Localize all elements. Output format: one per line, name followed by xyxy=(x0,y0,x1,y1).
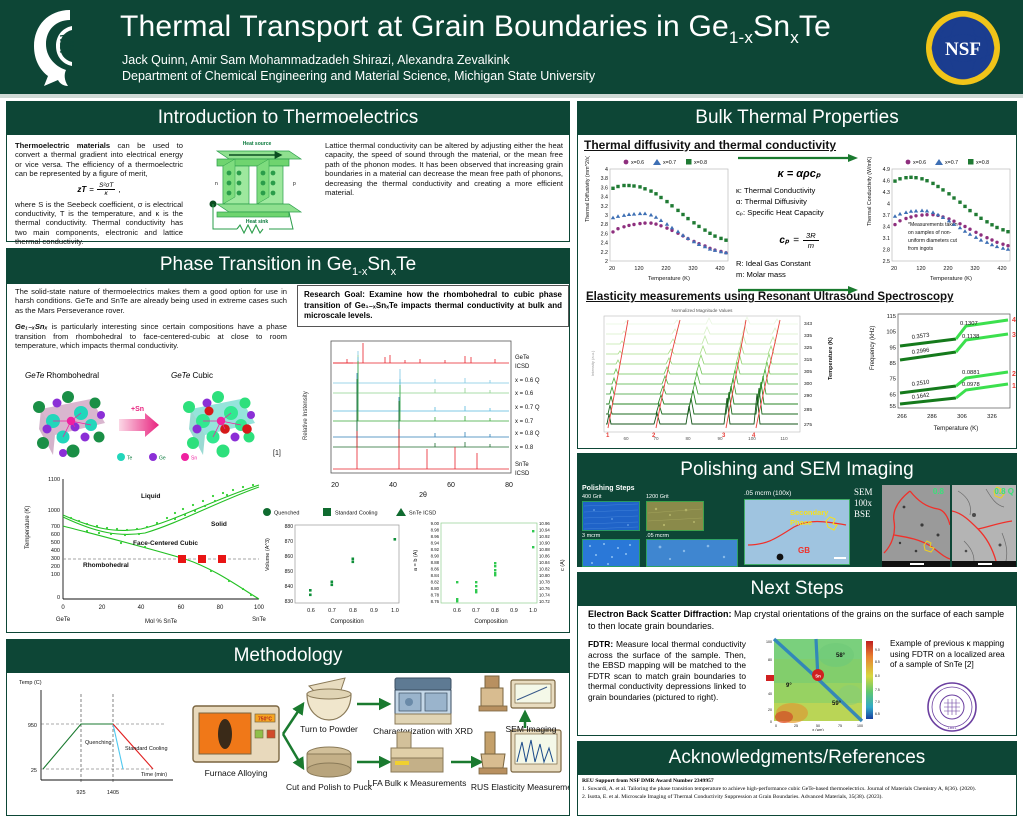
reference-2: 2. Isotta, E. et al. Microscale Imaging … xyxy=(582,794,1012,801)
pd-ytick-200: 200 xyxy=(51,564,60,570)
ebsd-paragraph: Electron Back Scatter Diffraction: Map c… xyxy=(588,609,1008,632)
svg-text:65: 65 xyxy=(890,392,896,398)
svg-text:10.82: 10.82 xyxy=(539,567,550,572)
xrd-machine-icon xyxy=(395,678,451,724)
struct-left-label: GeTe Rhombohedral xyxy=(25,371,99,380)
acknowledgments-heading: Acknowledgments/References xyxy=(578,742,1016,775)
freq-mode-3: 3 xyxy=(1012,332,1016,339)
fdtr-annot-9: 9° xyxy=(786,683,792,689)
waterfall-mode-3: 3 xyxy=(722,433,726,439)
wf-temp-315: 315 xyxy=(804,357,812,363)
xrd-series-label-7a: SnTe xyxy=(515,462,529,468)
freq-mode-4: 4 xyxy=(1012,317,1016,324)
svg-text:8.82: 8.82 xyxy=(431,580,440,585)
diff-legend-06: x=0.6 xyxy=(631,160,644,166)
svg-text:10.84: 10.84 xyxy=(539,560,550,565)
svg-text:100: 100 xyxy=(857,724,863,728)
svg-text:326: 326 xyxy=(987,414,997,420)
phase-diagram-ylabel: Temperature (K) xyxy=(25,506,31,549)
svg-text:10.80: 10.80 xyxy=(539,573,550,578)
svg-text:60: 60 xyxy=(623,436,629,441)
pd-region-liquid: Liquid xyxy=(141,493,161,500)
svg-text:2.8: 2.8 xyxy=(883,248,890,254)
xrd-series-label-0a: GeTe xyxy=(515,355,530,361)
cond-legend-07: x=0.7 xyxy=(945,160,958,166)
lattice-ylabel-right: c (A) xyxy=(560,559,566,571)
svg-text:8.96: 8.96 xyxy=(431,534,440,539)
lattice-legend: Quenched Standard Cooling SnTe ICSD xyxy=(261,505,461,519)
svg-text:10.86: 10.86 xyxy=(539,554,550,559)
tile-label-1200: 1200 Grit xyxy=(646,494,669,500)
svg-text:1.0: 1.0 xyxy=(529,608,537,614)
bulk-subheading: Thermal diffusivity and thermal conducti… xyxy=(584,138,1016,152)
vol-xtick-08: 0.8 xyxy=(349,608,357,614)
atom-legend: Te Ge Sn xyxy=(117,453,197,462)
svg-text:0: 0 xyxy=(770,720,772,724)
fdtr-annot-59: 59° xyxy=(832,701,842,707)
svg-text:10.96: 10.96 xyxy=(539,521,550,526)
pd-ytick-300: 300 xyxy=(51,556,60,562)
pd-xtick-20: 20 xyxy=(99,605,106,611)
title-sn: Sn xyxy=(753,10,790,43)
sem-label-3: BSE xyxy=(854,509,873,520)
step-label-furnace: Furnace Alloying xyxy=(205,768,268,778)
svg-text:105: 105 xyxy=(886,330,896,336)
pd-ytick-0: 0 xyxy=(57,595,60,601)
svg-text:420: 420 xyxy=(997,266,1006,272)
sem-label-1: SEM xyxy=(854,487,873,498)
svg-text:95: 95 xyxy=(890,345,896,351)
svg-text:Te: Te xyxy=(127,456,133,462)
thermal-conductivity-chart: x=0.6 x=0.7 x=0.8 Thermal Conductivity (… xyxy=(864,156,1016,284)
next-steps-heading: Next Steps xyxy=(578,573,1016,606)
author-block: Jack Quinn, Amir Sam Mohammadzadeh Shira… xyxy=(122,52,595,84)
crystal-structures: GeTe Rhombohedral GeTe Cubic xyxy=(13,371,293,471)
svg-text:4.9: 4.9 xyxy=(883,167,890,173)
label-secondary-phase-1: Secondary xyxy=(790,508,829,517)
ebsd-label: Electron Back Scatter Diffraction: xyxy=(588,609,732,619)
xrd-series-label-5: x = 0.8 Q xyxy=(515,431,540,437)
diff-ylabel: Thermal Diffusivity (mm^2/s) xyxy=(585,156,591,222)
arrow-top-icon xyxy=(736,154,860,162)
sem-label-2: 100x xyxy=(854,498,873,509)
svg-text:4.3: 4.3 xyxy=(883,190,890,196)
methodology-flow: 750°C Furnace Alloying Turn to Powder Ch xyxy=(185,672,569,814)
pd-region-solid: Solid xyxy=(211,521,227,528)
title-sub-x: x xyxy=(790,28,799,47)
step-label-powder: Turn to Powder xyxy=(300,724,358,734)
vol-ytick-830: 830 xyxy=(285,599,294,605)
lattice-ylabel-left: a = b (A) xyxy=(413,550,419,571)
xrd-series-label-7b: ICSD xyxy=(515,471,530,477)
xrd-chart: Relative Instensity GeTe ICSD x = 0.6 Q … xyxy=(295,335,567,510)
svg-text:3.6: 3.6 xyxy=(601,185,608,191)
step-label-lfa: LFA Bulk κ Measurements xyxy=(368,778,467,788)
sem-label-block: SEM 100x BSE xyxy=(854,487,873,520)
title-te: Te xyxy=(799,10,831,43)
sem-image-label-08: 0.8 xyxy=(933,487,945,496)
svg-text:2.2: 2.2 xyxy=(601,250,608,256)
svg-text:420: 420 xyxy=(715,266,724,272)
intro-panel: Introduction to Thermoelectrics Thermoel… xyxy=(6,101,570,242)
zt-eq-lhs: zT xyxy=(77,185,86,194)
pd-xtick-40: 40 xyxy=(138,605,145,611)
rus-subheading: Elasticity measurements using Resonant U… xyxy=(586,291,953,303)
cond-legend-08: x=0.8 xyxy=(976,160,989,166)
step-label-rus: RUS Elasticity Measurement xyxy=(471,782,569,792)
optical-micrograph: Secondary Phase GB xyxy=(744,499,850,565)
reu-support-line: REU Support from NSF DMR Award Number 23… xyxy=(582,778,1012,785)
svg-text:220: 220 xyxy=(943,266,952,272)
title-main: Thermal Transport at Grain Boundaries in… xyxy=(120,10,729,43)
vol-ytick-840: 840 xyxy=(285,584,294,590)
temp-xlabel: Time (min) xyxy=(141,772,167,778)
wf-temp-343: 343 xyxy=(804,321,812,327)
wf-temp-325: 325 xyxy=(804,345,812,351)
xrd-series-label-3: x = 0.7 Q xyxy=(515,405,540,411)
diff-legend-08: x=0.8 xyxy=(694,160,707,166)
waterfall-title: Normalized Magnitude Values xyxy=(672,308,734,313)
phase-diagram-chart: Temperature (K) 1100 1000 700 600 500 40… xyxy=(15,471,271,629)
next-steps-panel: Next Steps Electron Back Scatter Diffrac… xyxy=(577,572,1017,736)
svg-text:85: 85 xyxy=(890,361,896,367)
wf-temp-305: 305 xyxy=(804,369,812,375)
svg-text:75: 75 xyxy=(890,377,896,383)
svg-text:80: 80 xyxy=(685,436,691,441)
fdtr-caption: Example of previous κ mapping using FDTR… xyxy=(890,639,1012,671)
nsf-logo: NSF xyxy=(923,8,1003,88)
nsf-logo-text: NSF xyxy=(945,39,981,60)
def-R: R: Ideal Gas Constant xyxy=(736,258,862,269)
svg-text:80: 80 xyxy=(768,658,772,662)
fdtr-label: FDTR: xyxy=(588,639,613,649)
wf-temp-275: 275 xyxy=(804,422,812,428)
pd-region-rhombohedral: Rhombohedral xyxy=(83,562,129,569)
title-sub-1x: 1-x xyxy=(729,28,753,47)
vol-xtick-09: 0.9 xyxy=(370,608,378,614)
xrd-series-label-1: x = 0.6 Q xyxy=(515,378,540,384)
svg-text:8.90: 8.90 xyxy=(431,554,440,559)
rus-frequency-chart: Frequency (kHz) 11510595 857565 55 26628… xyxy=(864,308,1016,444)
freq-slope-high-2: 0.0881 xyxy=(962,370,980,376)
freq-slope-high-3: 0.1138 xyxy=(962,334,979,340)
svg-text:3.8: 3.8 xyxy=(601,176,608,182)
waterfall-mode-1: 1 xyxy=(606,433,610,439)
intro-bold-lead: Thermoelectric materials xyxy=(15,141,110,150)
svg-text:20: 20 xyxy=(609,266,615,272)
pd-xtick-0: 0 xyxy=(61,605,65,611)
svg-text:3.4: 3.4 xyxy=(883,225,890,231)
freq-mode-1: 1 xyxy=(1012,383,1016,390)
intro-paragraph-2: where S is the Seebeck coefficient, σ is… xyxy=(15,200,183,247)
furnace-temp-badge: 750°C xyxy=(258,717,272,723)
cp-eq-lhs: cₚ xyxy=(779,235,789,246)
svg-text:10.90: 10.90 xyxy=(539,541,550,546)
def-kappa: κ: Thermal Conductivity xyxy=(736,185,862,196)
furnace-icon: 750°C xyxy=(193,706,279,762)
vol-xtick-06: 0.6 xyxy=(307,608,315,614)
volume-chart: Volume (A^3) 880 870 860 850 840 830 0.6… xyxy=(259,519,409,629)
kappa-equation: κ = αρcₚ xyxy=(736,167,862,180)
leg-p-label: p xyxy=(293,181,296,187)
affiliation: Department of Chemical Engineering and M… xyxy=(122,68,595,84)
methodology-heading: Methodology xyxy=(7,640,569,673)
svg-text:3.4: 3.4 xyxy=(601,195,608,201)
intro-paragraph-1: Thermoelectric materials can be used to … xyxy=(15,141,183,179)
svg-text:110: 110 xyxy=(780,436,788,441)
bulk-equations-block: κ = αρcₚ κ: Thermal Conductivity α: Ther… xyxy=(736,154,862,294)
temp-ytick-25: 25 xyxy=(31,768,37,774)
svg-text:10.76: 10.76 xyxy=(539,586,550,591)
svg-text:120: 120 xyxy=(916,266,925,272)
temp-xtick-925: 925 xyxy=(76,790,85,796)
svg-text:20: 20 xyxy=(891,266,897,272)
puck-icon xyxy=(307,747,351,777)
pd-xtick-80: 80 xyxy=(217,605,224,611)
pd-ytick-600: 600 xyxy=(51,532,60,538)
cbar-tick-80: 8.0 xyxy=(875,674,880,678)
tile-label-400: 400 Grit xyxy=(582,494,602,500)
xrd-ylabel: Relative Instensity xyxy=(303,391,309,440)
annot-quenching: Quenching xyxy=(85,740,112,746)
cbar-tick-75: 7.5 xyxy=(875,688,880,692)
fdtr-annot-58: 58° xyxy=(836,653,846,659)
polish-400-grit xyxy=(582,501,640,531)
svg-text:4.6: 4.6 xyxy=(883,179,890,185)
svg-text:9.00: 9.00 xyxy=(431,521,440,526)
sem-icon xyxy=(479,676,555,711)
freq-ylabel: Frequency (kHz) xyxy=(870,326,876,370)
msu-spartan-helmet-logo xyxy=(18,6,98,90)
cond-note-line4: from ingots xyxy=(908,246,934,252)
temp-ylabel: Temp (C) xyxy=(19,680,42,686)
header-divider xyxy=(0,94,1023,98)
pd-ytick-100: 100 xyxy=(51,572,60,578)
waterfall-ylabel-right: Temperature (K) xyxy=(828,337,834,380)
svg-text:2.6: 2.6 xyxy=(601,231,608,237)
svg-text:3.1: 3.1 xyxy=(883,236,890,242)
svg-text:2.4: 2.4 xyxy=(601,241,608,247)
step-label-sem: SEM Imaging xyxy=(505,724,556,734)
lattice-xlabel: Composition xyxy=(474,619,507,625)
lfa-icon xyxy=(391,732,443,772)
xrd-series-label-4: x = 0.7 xyxy=(515,419,534,425)
optical-title: .05 mcrm (100x) xyxy=(744,490,791,497)
diff-legend-07: x=0.7 xyxy=(663,160,676,166)
vol-ytick-880: 880 xyxy=(285,524,294,530)
cbar-tick-85: 8.5 xyxy=(875,660,880,664)
research-goal-box: Research Goal: Examine how the rhombohed… xyxy=(297,285,569,327)
xrd-xtick-80: 80 xyxy=(505,482,513,489)
xrd-series-label-6: x = 0.8 xyxy=(515,445,534,451)
volume-ylabel: Volume (A^3) xyxy=(265,538,271,571)
phase-formula-lead: Ge xyxy=(15,322,25,331)
intro-heading: Introduction to Thermoelectrics xyxy=(7,102,569,135)
svg-text:1851: 1851 xyxy=(948,725,958,730)
lattice-parameter-chart: a = b (A) c (A) 9.008.988.96 8.948.928.9… xyxy=(409,519,569,629)
svg-text:Ge: Ge xyxy=(159,456,166,462)
heat-sink-label: Heat sink xyxy=(246,219,268,225)
xrd-xlabel: 2θ xyxy=(419,492,427,499)
polish-005-micron xyxy=(646,539,738,567)
cond-legend-06: x=0.6 xyxy=(913,160,926,166)
xrd-series-label-2: x = 0.6 xyxy=(515,391,534,397)
cond-legend: x=0.6 x=0.7 x=0.8 xyxy=(906,159,990,166)
polishing-heading: Polishing and SEM Imaging xyxy=(578,454,1016,487)
pd-ytick-400: 400 xyxy=(51,548,60,554)
svg-text:120: 120 xyxy=(634,266,643,272)
svg-text:8.76: 8.76 xyxy=(431,599,440,604)
svg-text:25: 25 xyxy=(794,724,798,728)
vol-ytick-850: 850 xyxy=(285,569,294,575)
svg-text:20: 20 xyxy=(768,708,772,712)
svg-text:10.92: 10.92 xyxy=(539,534,550,539)
wf-temp-285: 285 xyxy=(804,407,812,413)
thermoelectric-module-diagram: Heat source n p Heat sink xyxy=(197,137,317,237)
mortar-pestle-icon xyxy=(307,678,351,720)
step-label-puck: Cut and Polish to Puck xyxy=(286,782,373,792)
phase-arrow-label: +Sn xyxy=(131,406,144,413)
svg-text:0.9: 0.9 xyxy=(510,608,518,614)
page-title: Thermal Transport at Grain Boundaries in… xyxy=(120,10,831,48)
lattice-charts-group: Quenched Standard Cooling SnTe ICSD Volu… xyxy=(259,505,569,630)
bulk-heading: Bulk Thermal Properties xyxy=(578,102,1016,135)
phase-heading: Phase Transition in Ge1-xSnxTe xyxy=(7,249,569,284)
svg-text:220: 220 xyxy=(661,266,670,272)
svg-text:Sn: Sn xyxy=(191,456,197,462)
svg-text:90: 90 xyxy=(717,436,723,441)
cbar-tick-65: 6.5 xyxy=(875,712,880,716)
svg-text:8.80: 8.80 xyxy=(431,586,440,591)
author-names: Jack Quinn, Amir Sam Mohammadzadeh Shira… xyxy=(122,52,595,68)
diff-xlabel: Temperature (K) xyxy=(648,276,690,282)
svg-text:10.78: 10.78 xyxy=(539,580,550,585)
cbar-tick-90: 9.0 xyxy=(875,648,880,652)
svg-text:2: 2 xyxy=(605,259,608,265)
waterfall-ylabel: Intensity (a.u.) xyxy=(590,350,595,376)
svg-text:2.5: 2.5 xyxy=(883,259,890,265)
cond-note-line3: uniform diameters cut xyxy=(908,238,958,244)
leg-n-label: n xyxy=(215,181,218,187)
def-alpha: α: Thermal Diffusivity xyxy=(736,196,862,207)
svg-text:266: 266 xyxy=(897,414,907,420)
svg-text:10.74: 10.74 xyxy=(539,593,550,598)
vol-ytick-870: 870 xyxy=(285,539,294,545)
wf-temp-335: 335 xyxy=(804,333,812,339)
pd-left-endmember: GeTe xyxy=(56,617,71,623)
svg-text:8.92: 8.92 xyxy=(431,547,440,552)
thermal-diffusivity-chart: x=0.6 x=0.7 x=0.8 Thermal Diffusivity (m… xyxy=(582,156,734,284)
cond-ylabel: Thermal Conductivity (W/mK) xyxy=(867,157,873,226)
xrd-xtick-20: 20 xyxy=(331,482,339,489)
svg-text:0.6: 0.6 xyxy=(453,608,461,614)
vol-xtick-07: 0.7 xyxy=(328,608,336,614)
freq-slope-high-1: 0.0978 xyxy=(962,382,980,388)
reference-1: 1. Suwardi, A. et al. Tailoring the phas… xyxy=(582,786,1012,793)
svg-text:75: 75 xyxy=(838,724,842,728)
rus-icon xyxy=(479,730,561,774)
svg-text:70: 70 xyxy=(653,436,659,441)
sem-image-label-08q: 0.8 Q xyxy=(994,487,1014,496)
polish-1200-grit xyxy=(646,501,704,531)
vol-ytick-860: 860 xyxy=(285,554,294,560)
svg-text:3: 3 xyxy=(605,213,608,219)
xrd-xtick-40: 40 xyxy=(389,482,397,489)
def-m: m: Molar mass xyxy=(736,269,862,280)
cp-eq-den: m xyxy=(803,241,819,250)
pd-ytick-1000: 1000 xyxy=(48,508,60,514)
fdtr-map: 100 80 60 40 20 0 Sn 58° 9° 59° 02550 75… xyxy=(766,635,886,731)
cond-note-line2: on samples of non- xyxy=(908,230,952,236)
svg-text:0.7: 0.7 xyxy=(472,608,480,614)
acknowledgments-panel: Acknowledgments/References REU Support f… xyxy=(577,741,1017,816)
poster-header: Thermal Transport at Grain Boundaries in… xyxy=(0,0,1023,96)
structure-citation: [1] xyxy=(273,450,281,457)
legend-quenched: Quenched xyxy=(274,511,299,517)
polish-3-micron xyxy=(582,539,640,567)
intro-paragraph-3: Lattice thermal conductivity can be alte… xyxy=(325,141,563,197)
volume-xlabel: Composition xyxy=(330,619,363,625)
svg-text:4: 4 xyxy=(887,202,890,208)
vol-xtick-10: 1.0 xyxy=(391,608,399,614)
fdtr-annot-sn: Sn xyxy=(815,674,821,679)
pd-sample-markers xyxy=(178,555,226,563)
northwestern-seal: 1851 xyxy=(924,681,980,733)
svg-text:10.94: 10.94 xyxy=(539,528,550,533)
label-secondary-phase-2: Phase xyxy=(790,518,812,527)
svg-text:0.8: 0.8 xyxy=(491,608,499,614)
svg-text:115: 115 xyxy=(887,314,896,320)
temp-ytick-950: 950 xyxy=(28,723,37,729)
polishing-sem-panel: Polishing and SEM Imaging Polishing Step… xyxy=(577,453,1017,567)
svg-text:8.94: 8.94 xyxy=(431,541,440,546)
phase-transition-panel: Phase Transition in Ge1-xSnxTe The solid… xyxy=(6,248,570,633)
svg-text:286: 286 xyxy=(927,414,937,420)
phase-paragraph-2: Ge₁₋ₓSnₓ is particularly interesting sin… xyxy=(15,322,287,350)
svg-text:8.78: 8.78 xyxy=(431,593,440,598)
svg-text:320: 320 xyxy=(970,266,979,272)
svg-text:0: 0 xyxy=(775,724,777,728)
wf-temp-300: 300 xyxy=(804,381,812,387)
sem-image-08: 0.8 xyxy=(882,485,950,567)
pd-ytick-500: 500 xyxy=(51,540,60,546)
sem-image-08-quenched: 0.8 Q xyxy=(952,485,1016,567)
svg-text:8.84: 8.84 xyxy=(431,573,440,578)
zt-eq-denominator: κ xyxy=(97,190,115,197)
heat-source-label: Heat source xyxy=(243,141,272,147)
svg-text:3.7: 3.7 xyxy=(883,213,890,219)
phase-paragraph-1: The solid-state nature of thermoelectric… xyxy=(15,287,287,315)
svg-text:10.72: 10.72 xyxy=(539,599,550,604)
cbar-tick-70: 7.0 xyxy=(875,700,880,704)
phase-diagram-xlabel: Mol % SnTe xyxy=(145,619,178,625)
def-cp: cₚ: Specific Heat Capacity xyxy=(736,207,862,218)
svg-text:3.2: 3.2 xyxy=(601,204,608,210)
freq-slope-high-4: 0.1307 xyxy=(960,321,978,327)
xrd-series-label-0b: ICSD xyxy=(515,364,530,370)
freq-mode-2: 2 xyxy=(1012,371,1016,378)
diffusivity-legend: x=0.6 x=0.7 x=0.8 xyxy=(624,159,708,166)
freq-xlabel: Temperature (K) xyxy=(934,425,979,432)
pd-xtick-60: 60 xyxy=(178,605,185,611)
svg-text:8.88: 8.88 xyxy=(431,560,440,565)
svg-text:100: 100 xyxy=(748,436,756,441)
rus-waterfall-chart: Normalized Magnitude Values Intensity (a… xyxy=(584,306,862,446)
cp-eq-num: 3R xyxy=(803,231,819,241)
svg-text:8.86: 8.86 xyxy=(431,567,440,572)
temp-xtick-1405: 1405 xyxy=(107,790,119,796)
pd-region-fcc: Face-Centered Cubic xyxy=(133,540,198,547)
